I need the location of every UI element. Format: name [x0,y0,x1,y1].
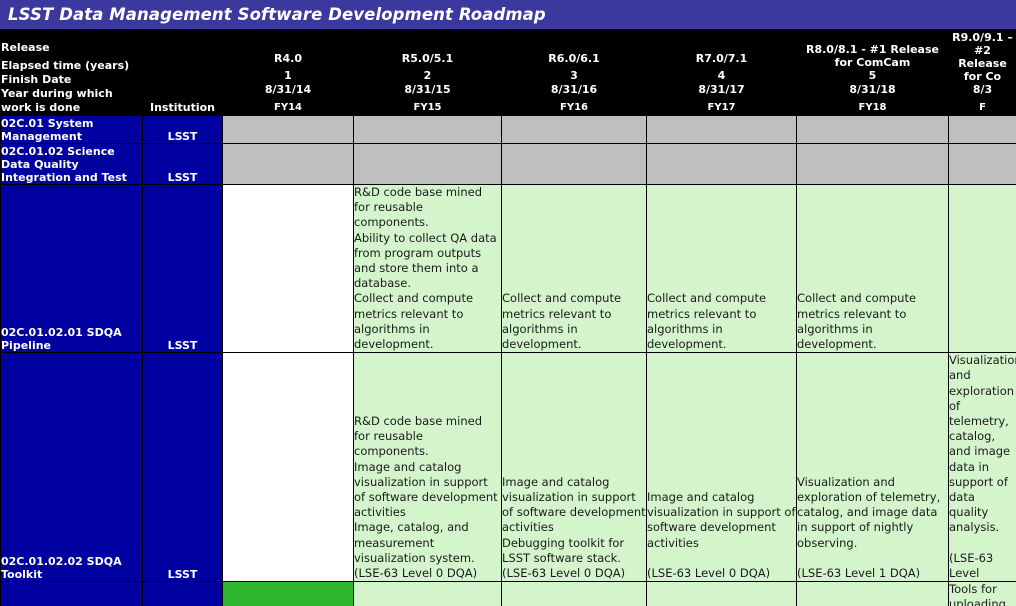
cell-r4[interactable] [223,185,354,353]
header-finish-value: 8/31/16 [502,83,646,97]
header-col-r6: R6.0/6.1 3 8/31/16 FY16 [502,31,647,116]
cell-r8[interactable]: Maintain science user usability of DM st… [797,582,949,606]
row-label[interactable]: 02C.01.02 Science Data Quality Integrati… [1,144,143,185]
header-col-r8: R8.0/8.1 - #1 Release for ComCam 5 8/31/… [797,31,949,116]
header-finish-value: 8/31/15 [354,83,501,97]
row-label[interactable]: 02C.01.02.01 SDQA Pipeline [1,185,143,353]
cell-r7[interactable]: Collect and compute metrics relevant to … [647,185,797,353]
cell-r6[interactable] [502,116,647,144]
header-finish-value: 8/31/14 [223,83,353,97]
header-label-year-work: Year during which work is done [1,87,142,115]
cell-r4[interactable]: End-user and developer documentation gen… [223,582,354,606]
header-finish-value: 8/31/18 [797,83,948,97]
header-fy-value: FY14 [223,97,353,115]
cell-r7[interactable]: Image and catalog visualization in suppo… [647,353,797,582]
header-col-r7: R7.0/7.1 4 8/31/17 FY17 [647,31,797,116]
header-release-name: R8.0/8.1 - #1 Release for ComCam [797,43,948,69]
table-row: 02C.01.02.01 SDQA Pipeline LSST R&D code… [1,185,1016,353]
page-title: LSST Data Management Software Developmen… [0,5,546,24]
header-institution: Institution [143,31,223,116]
header-elapsed-value: 4 [647,69,796,83]
header-col-r5: R5.0/5.1 2 8/31/15 FY15 [354,31,502,116]
row-label[interactable]: 02C.01.02.02 SDQA Toolkit [1,353,143,582]
header-label-elapsed: Elapsed time (years) [1,59,142,73]
row-institution: LSST [143,116,223,144]
cell-r9[interactable]: Visualization and exploration of telemet… [949,353,1016,582]
cell-r6[interactable]: Collect and compute metrics relevant to … [502,185,647,353]
row-label[interactable]: 02C.01.02.03 L3 Toolkit [1,582,143,606]
cell-r7[interactable] [647,116,797,144]
cell-r9[interactable] [949,144,1016,185]
cell-r7[interactable]: Maintain science user usability of DM st… [647,582,797,606]
header-fy-value: FY16 [502,97,646,115]
header-release-labels: Release Elapsed time (years) Finish Date… [1,31,143,116]
header-label-institution: Institution [143,101,222,115]
row-institution: LSST [143,582,223,606]
cell-r4[interactable] [223,353,354,582]
cell-r8[interactable] [797,116,949,144]
header-release-name: R6.0/6.1 [502,52,646,65]
cell-r5[interactable] [354,116,502,144]
cell-r5[interactable]: R&D code base mined for reusable compone… [354,185,502,353]
table-row: 02C.01.02 Science Data Quality Integrati… [1,144,1016,185]
header-elapsed-value: 1 [223,69,353,83]
header-release-name: R7.0/7.1 [647,52,796,65]
header-col-r9: R9.0/9.1 – #2 Release for Co 8/3 F [949,31,1016,116]
header-elapsed-value: 3 [502,69,646,83]
cell-r5[interactable]: R&D code base mined for reusable compone… [354,353,502,582]
cell-r4[interactable] [223,144,354,185]
cell-r8[interactable]: Visualization and exploration of telemet… [797,353,949,582]
header-fy-value: FY15 [354,97,501,115]
cell-r5[interactable]: LSST DM stack installable and usable by … [354,582,502,606]
header-release-name: R4.0 [223,52,353,65]
header-fy-value: FY17 [647,97,796,115]
header-col-r4: R4.0 1 8/31/14 FY14 [223,31,354,116]
header-finish-value: 8/31/17 [647,83,796,97]
cell-r5[interactable] [354,144,502,185]
row-label[interactable]: 02C.01 System Management [1,116,143,144]
table-header-row: Release Elapsed time (years) Finish Date… [1,31,1016,116]
cell-r7[interactable] [647,144,797,185]
cell-r6[interactable] [502,144,647,185]
header-release-name: R5.0/5.1 [354,52,501,65]
row-institution: LSST [143,353,223,582]
cell-r9[interactable] [949,116,1016,144]
cell-r6[interactable]: Maintain science user usability of DM st… [502,582,647,606]
header-fy-value: FY18 [797,97,948,115]
spreadsheet-roadmap: LSST Data Management Software Developmen… [0,0,1016,606]
title-bar: LSST Data Management Software Developmen… [0,0,1016,30]
table-row: 02C.01.02.02 SDQA Toolkit LSST R&D code … [1,353,1016,582]
table-row: 02C.01 System Management LSST [1,116,1016,144]
table-row: 02C.01.02.03 L3 Toolkit LSST End-user an… [1,582,1016,606]
header-finish-value: 8/3 [949,83,1016,97]
cell-r6[interactable]: Image and catalog visualization in suppo… [502,353,647,582]
row-institution: LSST [143,144,223,185]
cell-r4[interactable] [223,116,354,144]
header-fy-value: F [949,97,1016,115]
roadmap-table: Release Elapsed time (years) Finish Date… [0,30,1016,606]
header-elapsed-value: 5 [797,69,948,83]
header-elapsed-value: 2 [354,69,501,83]
cell-r9[interactable]: Tools for uploading the LSST data, confi… [949,582,1016,606]
cell-r9[interactable] [949,185,1016,353]
header-release-name: R9.0/9.1 – #2 Release for Co [949,31,1016,83]
header-label-finish: Finish Date [1,73,142,87]
header-label-release: Release [1,41,142,55]
row-institution: LSST [143,185,223,353]
cell-r8[interactable]: Collect and compute metrics relevant to … [797,185,949,353]
cell-r8[interactable] [797,144,949,185]
